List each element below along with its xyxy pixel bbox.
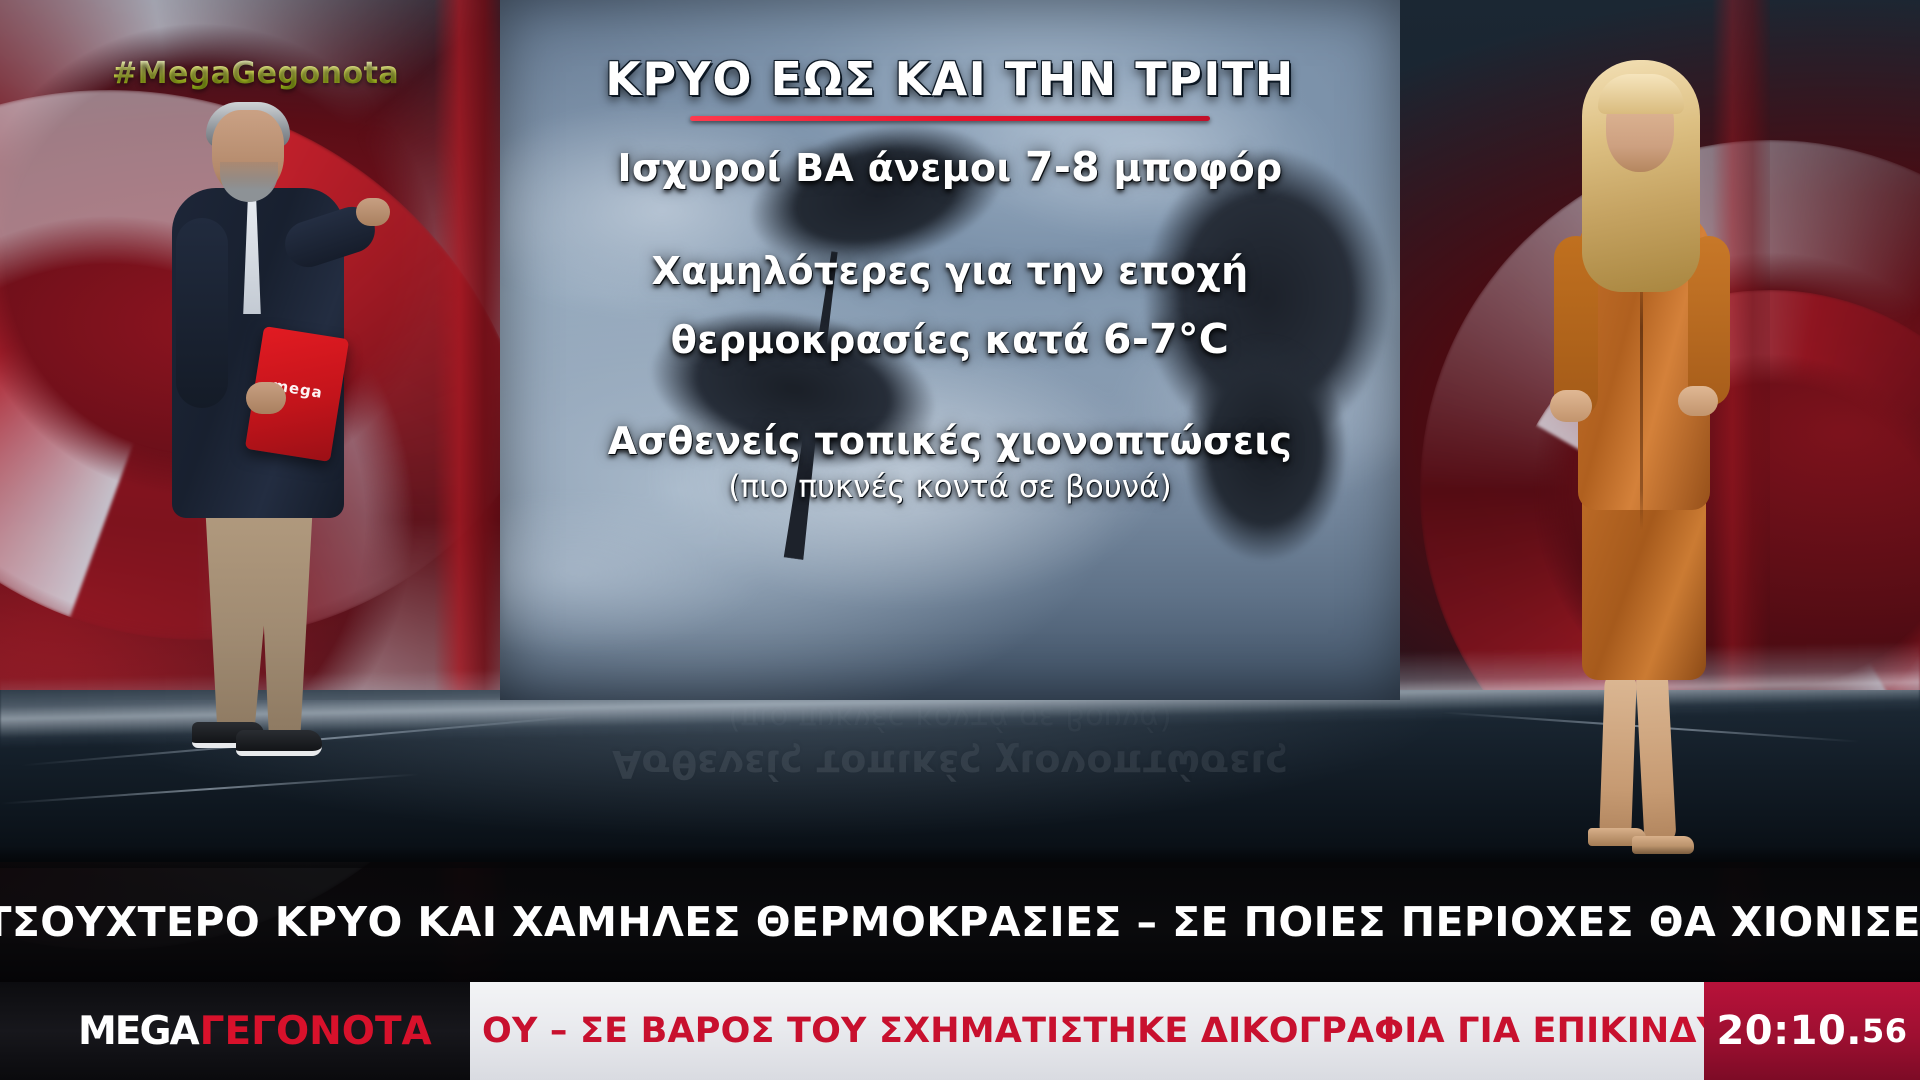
reflection-text: Ασθενείς τοπικές χιονοπτώσεις (πιο πυκνέ… (500, 700, 1400, 786)
logo-gegonota-text: ΓΕΓΟΝΟΤΑ (200, 1009, 432, 1054)
weather-title-underline (690, 116, 1210, 121)
temp-value: 6-7°C (1103, 315, 1229, 363)
weather-line-snow: Ασθενείς τοπικές χιονοπτώσεις (500, 419, 1400, 463)
on-screen-clock: 20:10.56 (1704, 982, 1920, 1080)
weather-text-block: ΚΡΥΟ ΕΩΣ ΚΑΙ ΤΗΝ ΤΡΙΤΗ Ισχυροί ΒΑ άνεμοι… (500, 0, 1400, 700)
dress-seam (1640, 260, 1643, 530)
temp-label: θερμοκρασίες κατά (671, 318, 1103, 362)
presenter-dress-skirt (1582, 490, 1706, 680)
weather-line-snow-note: (πιο πυκνές κοντά σε βουνά) (500, 469, 1400, 505)
clock-seconds: 56 (1862, 1012, 1908, 1050)
reflection-line-a: Ασθενείς τοπικές χιονοπτώσεις (500, 742, 1400, 786)
headline-text: ΤΣΟΥΧΤΕΡΟ ΚΡΥΟ ΚΑΙ ΧΑΜΗΛΕΣ ΘΕΡΜΟΚΡΑΣΙΕΣ … (0, 898, 1920, 946)
male-presenter: mega (150, 110, 370, 810)
presenter-legs (198, 508, 320, 734)
hashtag-overlay: #MegaGegonota (112, 56, 399, 91)
news-ticker-bar: MEGA ΓΕΓΟΝΟΤΑ ΟΥ – ΣΕ ΒΑΡΟΣ ΤΟΥ ΣΧΗΜΑΤΙΣ… (0, 982, 1920, 1080)
wind-label: Ισχυροί ΒΑ άνεμοι (618, 146, 1026, 190)
ticker-headline: ΟΥ – ΣΕ ΒΑΡΟΣ ΤΟΥ ΣΧΗΜΑΤΙΣΤΗΚΕ ΔΙΚΟΓΡΑΦΙ… (470, 1011, 1704, 1051)
weather-line-wind: Ισχυροί ΒΑ άνεμοι 7-8 μποφόρ (500, 143, 1400, 191)
presenter-hair-front (1598, 74, 1684, 114)
weather-line-temp-2: θερμοκρασίες κατά 6-7°C (500, 315, 1400, 363)
lower-third-bar: ΤΣΟΥΧΤΕΡΟ ΚΡΥΟ ΚΑΙ ΧΑΜΗΛΕΣ ΘΕΡΜΟΚΡΑΣΙΕΣ … (0, 862, 1920, 982)
logo-mega-text: MEGA (78, 1009, 198, 1054)
presenter-leg (1599, 671, 1637, 840)
channel-logo: MEGA ΓΕΓΟΝΟΤΑ (0, 982, 470, 1080)
weather-graphic-panel: ΚΡΥΟ ΕΩΣ ΚΑΙ ΤΗΝ ΤΡΙΤΗ Ισχυροί ΒΑ άνεμοι… (500, 0, 1400, 700)
wind-value: 7-8 (1025, 143, 1100, 191)
female-presenter (1520, 60, 1780, 860)
broadcast-screen: ΚΡΥΟ ΕΩΣ ΚΑΙ ΤΗΝ ΤΡΙΤΗ Ισχυροί ΒΑ άνεμοι… (0, 0, 1920, 1080)
presenter-shoe (236, 730, 322, 756)
weather-line-temp-1: Χαμηλότερες για την εποχή (500, 249, 1400, 293)
presenter-hand (356, 198, 390, 226)
presenter-leg (1635, 667, 1676, 844)
presenter-hand (1678, 386, 1718, 416)
reflection-line-b: (πιο πυκνές κοντά σε βουνά) (500, 700, 1400, 736)
presenter-hand (1550, 390, 1592, 422)
clock-time: 20:10. (1716, 1008, 1862, 1054)
weather-title: ΚΡΥΟ ΕΩΣ ΚΑΙ ΤΗΝ ΤΡΙΤΗ (500, 52, 1400, 106)
presenter-arm (176, 218, 228, 408)
presenter-hand (246, 382, 286, 414)
wind-unit: μποφόρ (1100, 146, 1283, 190)
